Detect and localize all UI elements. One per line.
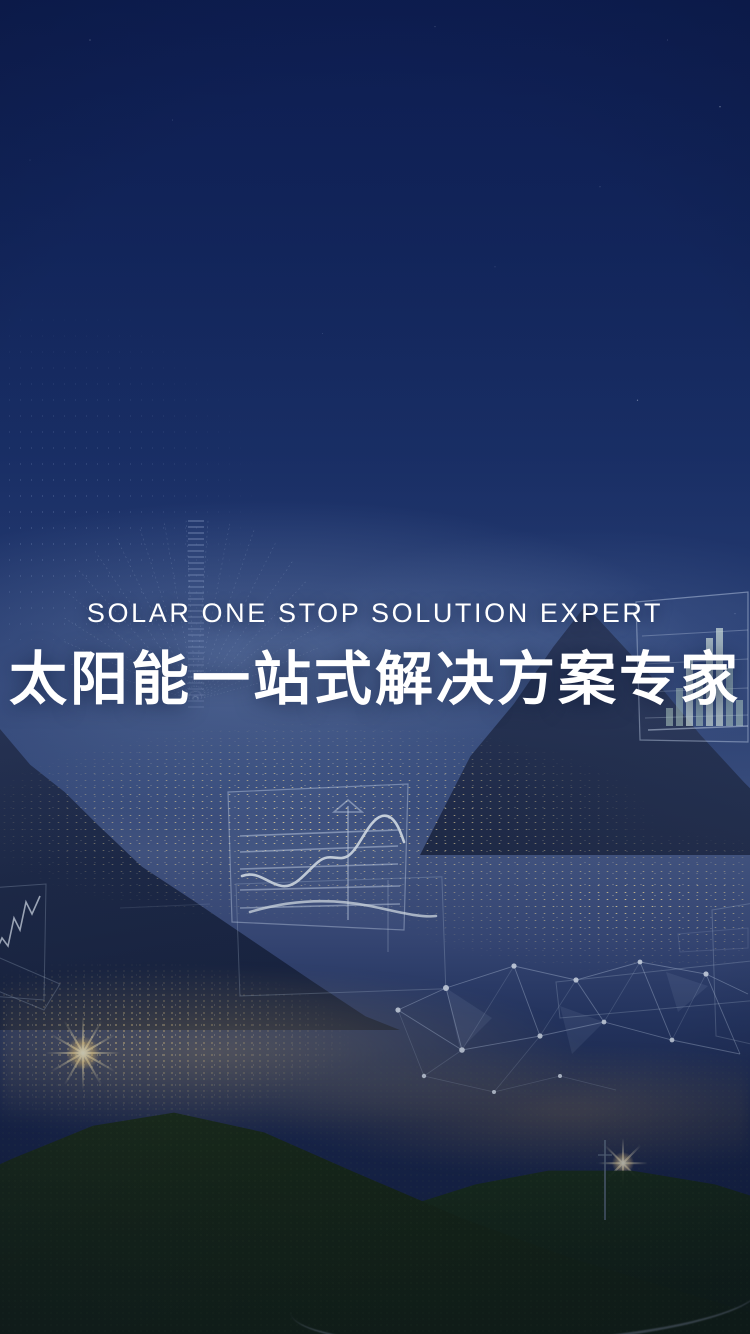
hero-banner: SOLAR ONE STOP SOLUTION EXPERT 太阳能一站式解决方…: [0, 0, 750, 1334]
sky-dot-mesh: [0, 120, 480, 640]
hero-headline: 太阳能一站式解决方案专家: [0, 649, 750, 710]
power-pylon: [598, 1140, 612, 1220]
hero-text-block: SOLAR ONE STOP SOLUTION EXPERT 太阳能一站式解决方…: [0, 600, 750, 710]
hero-eyebrow: SOLAR ONE STOP SOLUTION EXPERT: [0, 600, 750, 627]
